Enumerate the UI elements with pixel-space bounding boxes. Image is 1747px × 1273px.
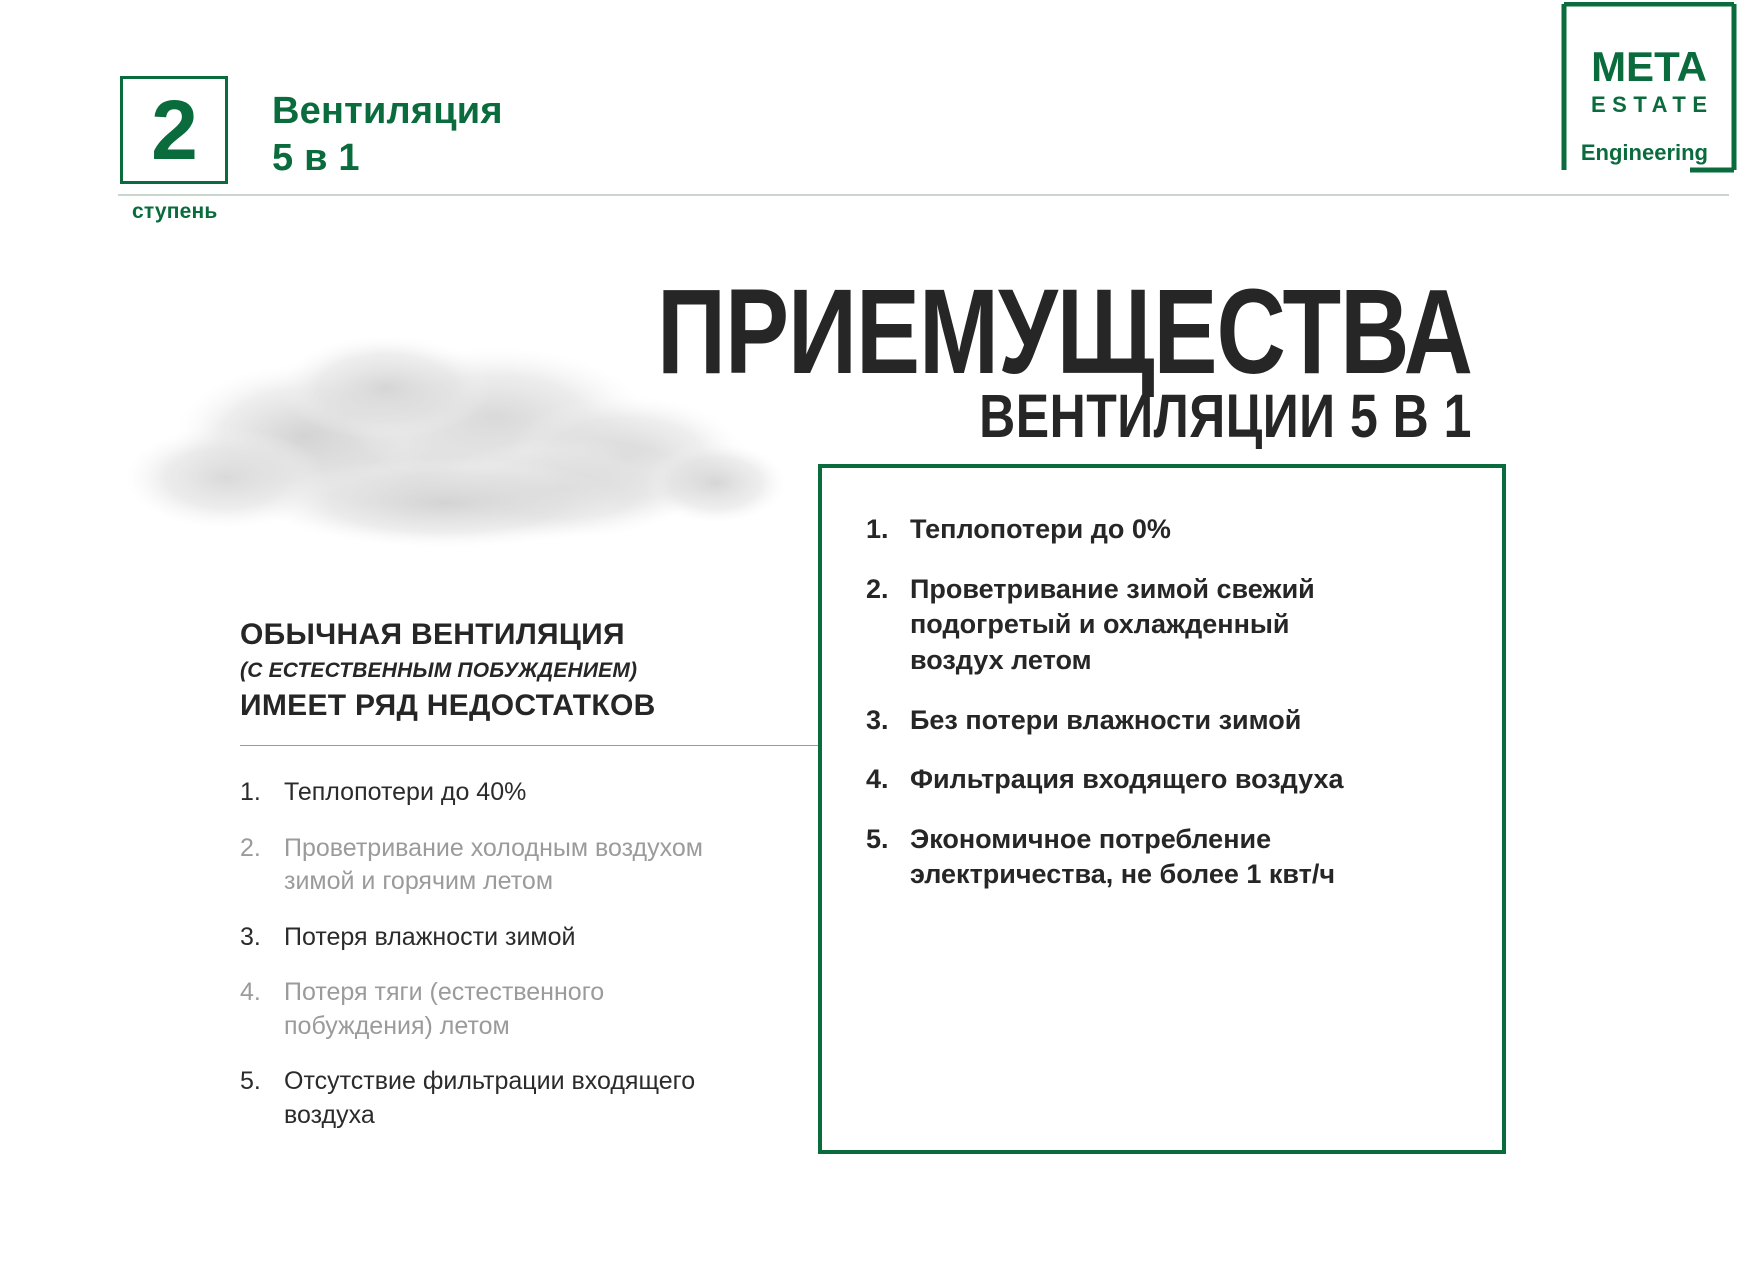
logo-meta-text: META — [1560, 46, 1738, 88]
list-item: 2.Проветривание зимой свежий подогретый … — [866, 572, 1466, 679]
list-item: 5.Экономичное потребление электричества,… — [866, 822, 1466, 893]
list-item-text: Проветривание холодным воздухом зимой и … — [284, 832, 754, 899]
list-item-text: Теплопотери до 0% — [910, 512, 1171, 548]
list-item-text: Без потери влажности зимой — [910, 703, 1301, 739]
list-item-number: 1. — [240, 776, 284, 810]
meta-estate-logo: META ESTATE Engineering — [1560, 2, 1738, 174]
list-item: 3.Без потери влажности зимой — [866, 703, 1466, 739]
list-item-text: Теплопотери до 40% — [284, 776, 526, 810]
slide-root: 2 ступень Вентиляция 5 в 1 META ESTATE E… — [0, 0, 1747, 1273]
list-item: 2.Проветривание холодным воздухом зимой … — [240, 832, 820, 899]
list-item: 1.Теплопотери до 0% — [866, 512, 1466, 548]
list-item-text: Проветривание зимой свежий подогретый и … — [910, 572, 1350, 679]
step-number-box: 2 — [120, 76, 228, 184]
list-item-text: Потеря тяги (естественного побуждения) л… — [284, 976, 754, 1043]
step-caption: ступень — [132, 200, 218, 224]
disadvantages-section: ОБЫЧНАЯ ВЕНТИЛЯЦИЯ (С ЕСТЕСТВЕННЫМ ПОБУЖ… — [240, 618, 820, 1154]
slide-header: 2 ступень Вентиляция 5 в 1 META ESTATE E… — [0, 0, 1747, 216]
list-item-text: Экономичное потребление электричества, н… — [910, 822, 1350, 893]
list-item: 4.Фильтрация входящего воздуха — [866, 762, 1466, 798]
list-item: 3.Потеря влажности зимой — [240, 921, 820, 955]
list-item: 5.Отсутствие фильтрации входящего воздух… — [240, 1065, 820, 1132]
list-item-number: 4. — [240, 976, 284, 1010]
list-item-number: 1. — [866, 512, 910, 548]
disadvantages-heading: ОБЫЧНАЯ ВЕНТИЛЯЦИЯ — [240, 618, 820, 653]
header-title-line2: 5 в 1 — [272, 135, 503, 182]
header-title: Вентиляция 5 в 1 — [272, 88, 503, 182]
list-item-number: 2. — [866, 572, 910, 608]
list-item: 1.Теплопотери до 40% — [240, 776, 820, 810]
list-item-number: 3. — [866, 703, 910, 739]
disadvantages-heading-2: ИМЕЕТ РЯД НЕДОСТАТКОВ — [240, 689, 820, 724]
list-item-text: Фильтрация входящего воздуха — [910, 762, 1344, 798]
header-divider — [118, 194, 1729, 196]
page-title: ПРИЕМУЩЕСТВА — [0, 272, 1472, 393]
page-subtitle: ВЕНТИЛЯЦИИ 5 В 1 — [0, 386, 1472, 447]
disadvantages-divider — [240, 745, 820, 746]
list-item-text: Потеря влажности зимой — [284, 921, 575, 955]
step-number: 2 — [151, 88, 197, 172]
list-item-number: 5. — [240, 1065, 284, 1099]
list-item-text: Отсутствие фильтрации входящего воздуха — [284, 1065, 754, 1132]
disadvantages-list: 1.Теплопотери до 40%2.Проветривание холо… — [240, 776, 820, 1132]
list-item-number: 3. — [240, 921, 284, 955]
list-item-number: 5. — [866, 822, 910, 858]
header-title-line1: Вентиляция — [272, 88, 503, 135]
advantages-panel: 1.Теплопотери до 0%2.Проветривание зимой… — [818, 464, 1506, 1154]
logo-engineering-text: Engineering — [1560, 142, 1708, 164]
list-item-number: 2. — [240, 832, 284, 866]
advantages-list: 1.Теплопотери до 0%2.Проветривание зимой… — [866, 512, 1466, 917]
disadvantages-subheading: (С ЕСТЕСТВЕННЫМ ПОБУЖДЕНИЕМ) — [240, 657, 820, 684]
list-item: 4.Потеря тяги (естественного побуждения)… — [240, 976, 820, 1043]
list-item-number: 4. — [866, 762, 910, 798]
logo-estate-text: ESTATE — [1560, 94, 1738, 116]
